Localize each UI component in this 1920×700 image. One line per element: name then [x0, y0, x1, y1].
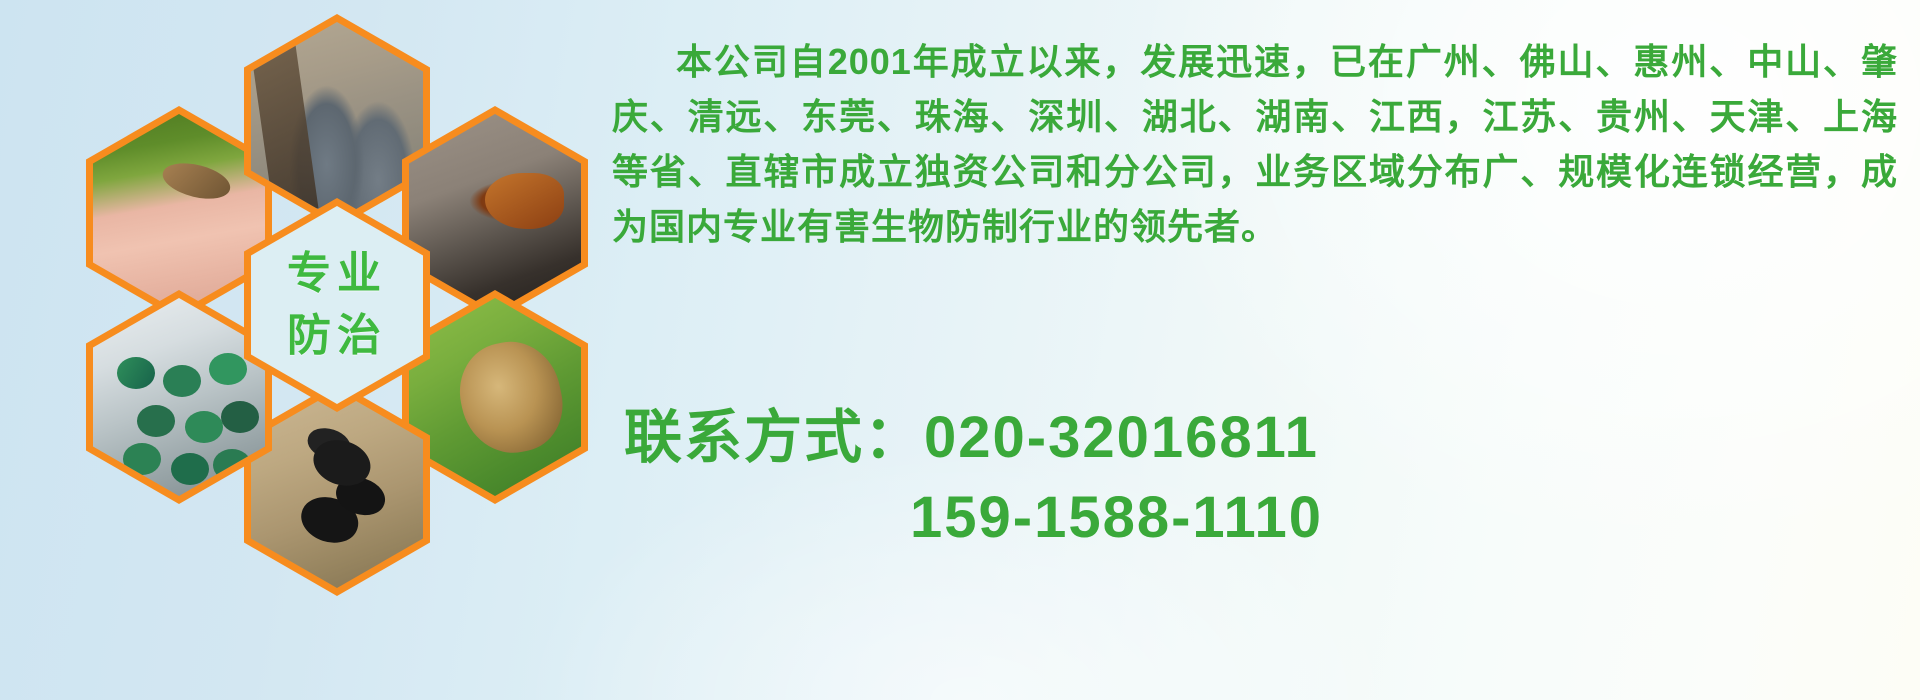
stinkbug-photo [409, 298, 581, 496]
hex-inner [409, 114, 581, 312]
company-intro: 本公司自2001年成立以来，发展迅速，已在广州、佛山、惠州、中山、肇庆、清远、东… [612, 34, 1898, 254]
flies-photo [93, 298, 265, 496]
hex-inner [251, 22, 423, 220]
cockroach-photo [409, 114, 581, 312]
hex-inner [409, 298, 581, 496]
slogan-line-1: 专业 [287, 247, 387, 301]
promo-banner: 专业 防治 本公司自2001年成立以来，发展迅速，已在广州、佛山、惠州、中山、肇… [0, 0, 1920, 700]
hex-inner [93, 298, 265, 496]
hex-inner [251, 390, 423, 588]
company-intro-text: 本公司自2001年成立以来，发展迅速，已在广州、佛山、惠州、中山、肇庆、清远、东… [612, 34, 1898, 254]
honeycomb-cluster: 专业 防治 [86, 10, 586, 570]
ant-photo [251, 390, 423, 588]
contact-block: 联系方式：020-32016811 159-1588-1110 [624, 398, 1904, 558]
mosquito-photo [93, 114, 265, 312]
hex-inner [93, 114, 265, 312]
rats-photo [251, 22, 423, 220]
contact-landline-line[interactable]: 联系方式：020-32016811 [624, 398, 1904, 478]
contact-mobile-line[interactable]: 159-1588-1110 [624, 478, 1904, 558]
hex-inner: 专业 防治 [251, 206, 423, 404]
slogan-line-2: 防治 [287, 309, 387, 363]
